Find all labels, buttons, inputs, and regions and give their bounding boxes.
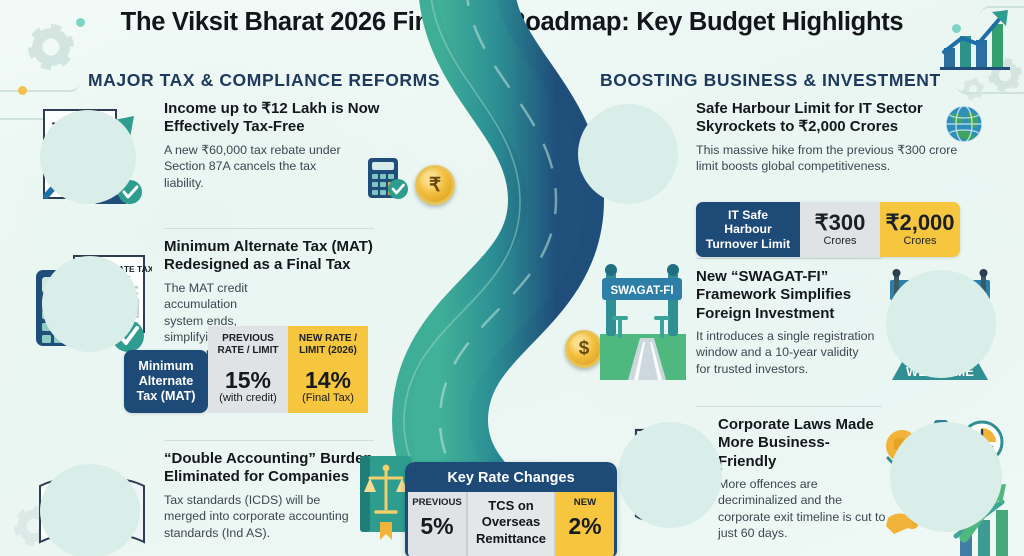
right-block-3-body: More offences are decriminalized and the… (718, 476, 888, 542)
safe-harbour-previous-note: Crores (823, 235, 856, 247)
mat-new-note: (Final Tax) (292, 392, 364, 404)
right-block-corporate-laws: Corporate Laws Made More Business-Friend… (608, 416, 1000, 546)
mat-comparison-table: Minimum Alternate Tax (MAT) PREVIOUS RAT… (124, 326, 368, 413)
rocket-globe-launch-icon (566, 100, 694, 206)
mat-previous-header: PREVIOUS RATE / LIMIT (208, 326, 288, 364)
key-rate-changes-title: Key Rate Changes (408, 465, 614, 492)
left-block-double-accounting: “Double Accounting” Burden Eliminated fo… (24, 450, 394, 556)
mat-row-label: Minimum Alternate Tax (MAT) (124, 350, 208, 413)
left-block-1-heading: Income up to ₹12 Lakh is Now Effectively… (164, 100, 394, 137)
key-rate-previous-value: 5% (408, 511, 466, 550)
infographic-canvas: The Viksit Bharat 2026 Financial Roadmap… (0, 0, 1024, 556)
svg-text:SWAGAT-FI: SWAGAT-FI (610, 285, 673, 297)
swagat-fi-gateway-icon: SWAGAT-FI (588, 262, 696, 386)
swagat-fi-welcome-flags-icon: SWAGAT-FI (876, 266, 1004, 386)
safe-harbour-row-label: IT Safe Harbour Turnover Limit (696, 202, 800, 257)
open-book-arrows-icon (30, 458, 156, 556)
rupee-coin-marker: ₹ (415, 165, 455, 205)
safe-harbour-previous-cell: ₹300 Crores (800, 202, 880, 257)
left-divider-2 (164, 440, 374, 441)
right-divider-2 (696, 406, 882, 407)
left-divider-1 (164, 228, 374, 229)
right-block-3-heading: Corporate Laws Made More Business-Friend… (718, 416, 882, 471)
key-rate-new-cell: NEW 2% (556, 492, 614, 556)
mat-previous-column: PREVIOUS RATE / LIMIT 15% (with credit) (208, 326, 288, 413)
key-rate-changes-card: Key Rate Changes PREVIOUS 5% TCS on Over… (405, 462, 617, 556)
mat-new-value: 14% (292, 369, 364, 392)
mat-previous-note: (with credit) (212, 392, 284, 404)
left-block-1-body: A new ₹60,000 tax rebate under Section 8… (164, 142, 352, 192)
section-header-right: BOOSTING BUSINESS & INVESTMENT (600, 70, 941, 91)
stopwatch-days-icon: DAYS (886, 414, 1010, 544)
key-rate-subject: TCS on Overseas Remittance (466, 492, 556, 556)
safe-harbour-comparison-table: IT Safe Harbour Turnover Limit ₹300 Cror… (696, 202, 960, 257)
right-divider-1 (696, 258, 882, 259)
right-block-safe-harbour: Safe Harbour Limit for IT Sector Skyrock… (608, 100, 1000, 250)
key-rate-new-tag: NEW (556, 492, 614, 511)
left-block-income-tax-free: TAX (24, 100, 394, 218)
right-block-1-body: This massive hike from the previous ₹300… (696, 142, 968, 175)
right-block-swagat-fi: SWAGAT-FI New “SWAGAT-FI” Framework Simp… (608, 268, 1000, 404)
mat-new-header: NEW RATE / LIMIT (2026) (288, 326, 368, 364)
left-column: TAX (24, 100, 394, 556)
globe-icon (944, 104, 984, 144)
safe-harbour-previous-value: ₹300 (815, 212, 866, 234)
safe-harbour-new-note: Crores (903, 235, 936, 247)
right-block-2-body: It introduces a single registration wind… (696, 328, 876, 378)
left-block-2-heading: Minimum Alternate Tax (MAT) Redesigned a… (164, 238, 394, 275)
safe-harbour-new-value: ₹2,000 (885, 212, 954, 234)
safe-harbour-new-cell: ₹2,000 Crores (880, 202, 960, 257)
left-block-3-body: Tax standards (ICDS) will be merged into… (164, 492, 350, 542)
mat-previous-value: 15% (212, 369, 284, 392)
right-column: Safe Harbour Limit for IT Sector Skyrock… (608, 100, 1000, 546)
left-block-mat: CORPORATE TAX TAX (24, 238, 394, 396)
key-rate-previous-tag: PREVIOUS (408, 492, 466, 511)
tax-chart-growth-icon: TAX (30, 104, 150, 204)
key-rate-previous-cell: PREVIOUS 5% (408, 492, 466, 556)
calculator-check-icon (364, 156, 410, 202)
document-padlock-icon (614, 416, 726, 538)
key-rate-new-value: 2% (556, 511, 614, 550)
mat-new-column: NEW RATE / LIMIT (2026) 14% (Final Tax) (288, 326, 368, 413)
right-block-2-heading: New “SWAGAT-FI” Framework Simplifies For… (696, 268, 874, 323)
